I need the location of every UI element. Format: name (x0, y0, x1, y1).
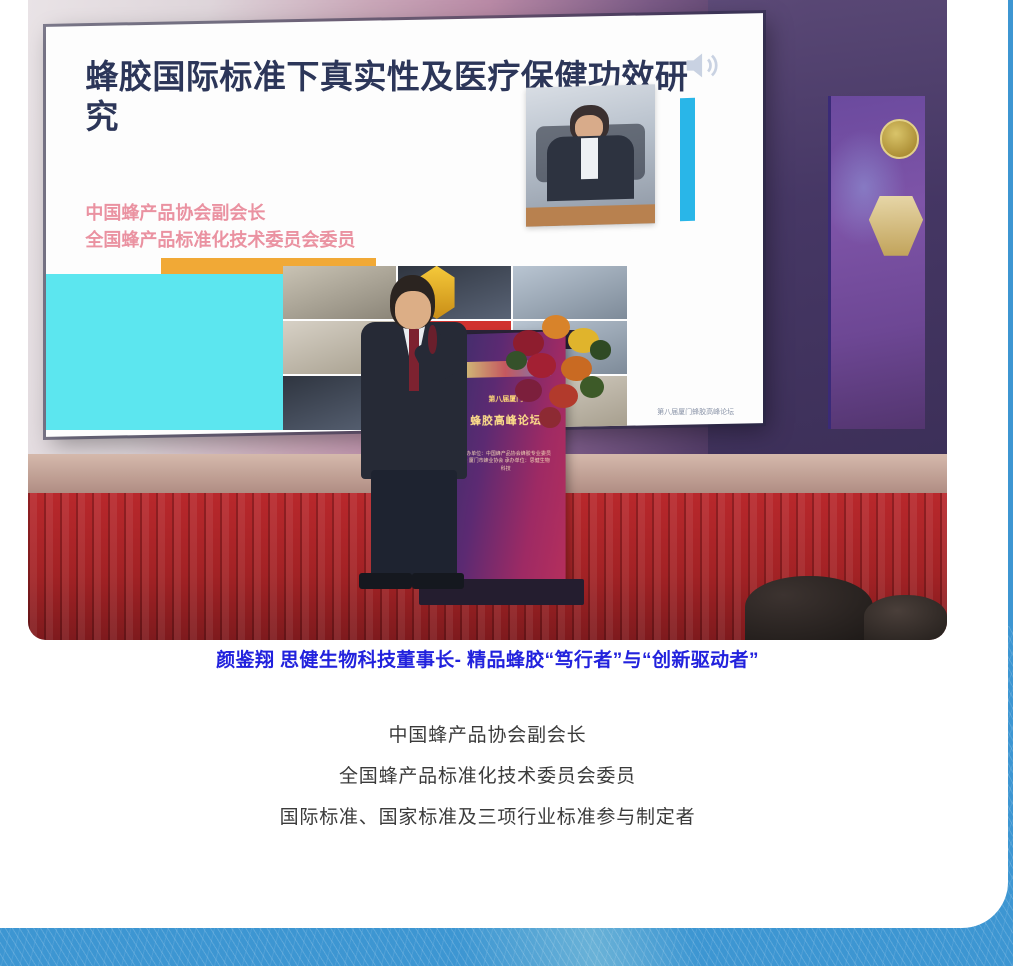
flower (515, 379, 541, 402)
bio-line-3: 国际标准、国家标准及三项行业标准参与制定者 (28, 808, 947, 827)
slide-cyan-block (46, 274, 283, 430)
speaker-shoe (359, 573, 412, 589)
flower (549, 384, 578, 408)
photo-canvas: 蜂胶国际标准下真实性及医疗保健功效研究 中国蜂产品协会副会长 全国蜂产品标准化技… (28, 0, 947, 640)
photo-caption: 颜鉴翔 思健生物科技董事长- 精品蜂胶“笃行者”与“创新驱动者” (28, 645, 947, 672)
audience-head-foreground (864, 595, 947, 640)
flower-leaf (506, 351, 528, 370)
slide-subtitle-line-1: 中国蜂产品协会副会长 (86, 201, 588, 228)
speaker-shoe (412, 573, 465, 589)
flower (539, 407, 561, 427)
flower-leaf (580, 376, 604, 398)
gold-emblem-logo-icon (880, 119, 919, 158)
bio-text-block: 中国蜂产品协会副会长 全国蜂产品标准化技术委员会委员 国际标准、国家标准及三项行… (28, 726, 947, 827)
slide-subtitle: 中国蜂产品协会副会长 全国蜂产品标准化技术委员会委员 (86, 201, 588, 255)
speaker-legs (371, 470, 457, 577)
slide-portrait-photo (527, 84, 656, 227)
purple-standee-banner (828, 96, 924, 429)
speaker-volume-icon (677, 45, 727, 86)
flower (527, 353, 556, 377)
portrait-desk (527, 204, 656, 227)
flower-leaf (590, 340, 612, 359)
speaker-person (354, 275, 473, 589)
slide-footnote: 第八届厦门蜂胶高峰论坛 (658, 408, 735, 418)
bio-line-1: 中国蜂产品协会副会长 (28, 726, 947, 745)
standee-gold-glyph (869, 196, 923, 256)
slide-subtitle-line-2: 全国蜂产品标准化技术委员会委员 (86, 228, 588, 255)
bio-line-2: 全国蜂产品标准化技术委员会委员 (28, 767, 947, 786)
event-photo: 蜂胶国际标准下真实性及医疗保健功效研究 中国蜂产品协会副会长 全国蜂产品标准化技… (28, 0, 947, 640)
flower (542, 315, 571, 339)
microphone-icon (428, 325, 436, 353)
podium-line-3: 主办单位：中国蜂产品协会蜂胶专业委员会 厦门市蜂业协会 承办单位：思健生物科技 (461, 450, 551, 473)
speaker-face (395, 291, 431, 329)
slide-cyan-accent-bar (680, 98, 695, 221)
flower-arrangement (506, 307, 625, 435)
audience-head-foreground (745, 576, 874, 640)
portrait-shirt (582, 137, 599, 179)
